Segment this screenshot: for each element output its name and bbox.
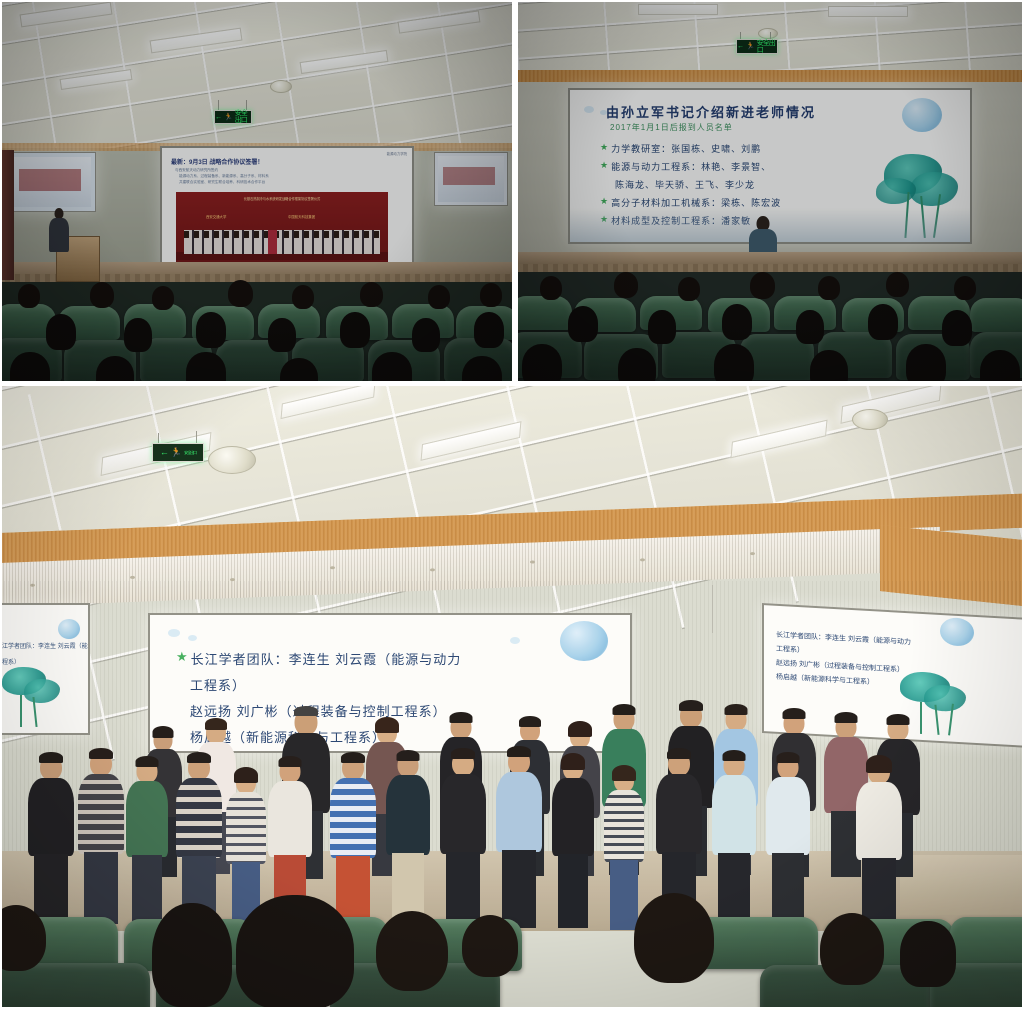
exit-sign-wire xyxy=(218,100,219,110)
running-person-icon: 🏃 xyxy=(746,43,755,50)
ceremony-subbanner-left: 西安交通大学 xyxy=(206,214,226,219)
slide-bullet-2: 能源动力系、过程装备系、新能源系、高分子系、材料系 xyxy=(179,174,407,179)
collage-border-left xyxy=(0,0,2,1009)
audience-head xyxy=(90,282,114,308)
audience-head xyxy=(954,276,976,300)
collage-divider-vertical xyxy=(512,0,518,383)
ceiling-speaker-dome xyxy=(758,28,778,39)
ceremony-banner: 长基石热制冷与水系统研发战略合作框架协议签署仪式 xyxy=(182,196,382,201)
slide-content: 最新：9月3日 战略合作协议签署！ 与西安航天动力研究所签约 能源动力系、过程装… xyxy=(162,148,412,270)
side-screen-left xyxy=(8,152,96,212)
slide-subtitle: 2017年1月1日后报到人员名单 xyxy=(610,122,733,133)
collage-panel-top-left: ← 🏃 安全出口 最新：9月3日 战略合作协议签署！ 与西安航天动力研究所签约 … xyxy=(0,0,512,381)
standing-group-front-row xyxy=(0,733,1024,933)
audience-head xyxy=(236,895,354,1009)
audience-head xyxy=(818,276,840,300)
photo-collage: ← 🏃 安全出口 最新：9月3日 战略合作协议签署！ 与西安航天动力研究所签约 … xyxy=(0,0,1024,1009)
exit-sign-label: 安全出口 xyxy=(235,110,251,124)
ceiling-speaker-dome xyxy=(852,409,888,430)
audience-head xyxy=(722,304,752,340)
ceiling-lamp xyxy=(828,6,908,17)
ceiling-speaker-dome xyxy=(270,80,292,93)
collage-divider-horizontal xyxy=(0,381,1024,386)
audience-head xyxy=(906,344,946,381)
slide-list-line: 工程系） xyxy=(0,657,20,666)
audience-head xyxy=(428,285,450,309)
audience-head xyxy=(340,312,370,348)
audience-area-bottom xyxy=(0,905,1024,1009)
exit-sign: ← 🏃 安全出口 xyxy=(152,443,204,462)
audience-head xyxy=(900,921,956,987)
audience-head xyxy=(750,272,775,299)
running-person-icon: 🏃 xyxy=(224,114,233,121)
ceiling-speaker-dome xyxy=(208,446,256,474)
slide-bullet-1: 与西安航天动力研究所签约 xyxy=(175,168,407,173)
audience-head xyxy=(820,913,884,985)
slide-list-line: 长江学者团队：李连生 刘云霞（能源与动力 xyxy=(191,649,462,668)
slide-corner-logo: 能源动力学院 xyxy=(387,151,407,156)
exit-sign-label: 安全出口 xyxy=(184,451,196,455)
audience-area-top-right xyxy=(518,272,1024,381)
ceiling-lamp xyxy=(638,4,718,15)
audience-head xyxy=(376,911,448,991)
audience-head xyxy=(568,306,598,342)
audience-head xyxy=(868,304,898,340)
audience-head xyxy=(480,283,502,307)
side-screen-right xyxy=(434,152,508,206)
audience-head xyxy=(124,318,152,352)
audience-head xyxy=(18,284,40,308)
seat xyxy=(518,296,572,330)
audience-head xyxy=(462,915,518,977)
stage-curtain xyxy=(0,150,14,280)
audience-head xyxy=(634,893,714,983)
audience-head xyxy=(886,272,909,297)
audience-head xyxy=(46,314,76,350)
slide-list-line: 长江学者团队：李连生 刘云霞（能源与动力 xyxy=(0,641,88,650)
audience-head xyxy=(0,905,46,971)
collage-panel-top-right: ← 🏃 安全出口 由孙立军书记介绍新进老师情况 2017年1月1日后报到人员名单… xyxy=(518,0,1024,381)
slide-list-line: 工程系） xyxy=(190,675,246,694)
audience-head xyxy=(648,310,676,344)
audience-head xyxy=(678,277,700,301)
audience-head xyxy=(540,276,562,300)
audience-head xyxy=(474,312,504,348)
audience-head xyxy=(268,318,296,352)
collage-panel-bottom: ← 🏃 安全出口 长江学者团队：李连生 刘云霞（能源与动力 工程系） xyxy=(0,385,1024,1009)
ceiling-top-left: ← 🏃 安全出口 xyxy=(0,0,512,150)
slide-blue-blob xyxy=(940,617,974,647)
slide-list: 长江学者团队：李连生 刘云霞（能源与动力 工程系） 赵远扬 刘广彬（过程装备与控… xyxy=(776,630,911,690)
slide-mini-blob xyxy=(510,637,520,644)
audience-head xyxy=(360,282,383,307)
speaker-person xyxy=(48,208,70,266)
seat xyxy=(950,917,1024,969)
bullet-star-icon: ★ xyxy=(600,142,608,155)
audience-head xyxy=(714,344,754,381)
exit-sign: ← 🏃 安全出口 xyxy=(214,110,252,124)
collage-border-top xyxy=(0,0,1024,2)
audience-head xyxy=(796,310,824,344)
audience-area-top-left xyxy=(0,282,512,381)
bullet-star-icon: ★ xyxy=(600,160,608,173)
exit-arrow-icon: ← xyxy=(160,448,169,457)
audience-head xyxy=(152,286,174,310)
standing-person xyxy=(78,751,124,931)
bullet-star-icon: ★ xyxy=(176,649,188,668)
slide-blue-blob xyxy=(560,621,608,661)
slide-blue-blob xyxy=(58,619,80,639)
slide-list-line: 杨启越（新能源科学与工程系） xyxy=(776,672,911,690)
audience-head xyxy=(228,280,253,307)
slide-mini-blob xyxy=(168,629,180,637)
slide-list-line: 陈海龙、毕天骄、王飞、李少龙 xyxy=(615,178,755,191)
exit-sign-wire xyxy=(770,32,771,39)
audience-head xyxy=(614,272,638,298)
audience-head xyxy=(196,312,226,348)
exit-arrow-icon: ← xyxy=(737,43,744,50)
hanging-cable xyxy=(712,585,713,633)
audience-head xyxy=(412,318,440,352)
ceiling-top-right: ← 🏃 安全出口 xyxy=(518,0,1024,72)
audience-head xyxy=(152,903,232,1007)
audience-head xyxy=(810,350,848,381)
exit-sign: ← 🏃 安全出口 xyxy=(736,39,778,54)
slide-title: 最新：9月3日 战略合作协议签署！ xyxy=(171,157,407,166)
ceremony-subbanner-right: 中国航天科技集团 xyxy=(288,214,315,219)
audience-head xyxy=(942,310,972,346)
slide-bullet-3: 共建联合实验室、研究生联合培养、科研技术合作平台 xyxy=(179,180,407,185)
seat xyxy=(970,298,1024,332)
main-projection-screen-top-left: 最新：9月3日 战略合作协议签署！ 与西安航天动力研究所签约 能源动力系、过程装… xyxy=(160,146,414,272)
slide-list-line: 能源与动力工程系：林艳、李景智、 xyxy=(611,160,771,173)
slide-title: 由孙立军书记介绍新进老师情况 xyxy=(606,102,816,121)
running-person-icon: 🏃 xyxy=(171,448,182,457)
slide-mini-blob xyxy=(188,635,197,641)
exit-sign-wire xyxy=(196,431,197,443)
slide-list-line: 力学教研室：张国栋、史啸、刘鹏 xyxy=(611,142,761,155)
slide-embedded-photo: 长基石热制冷与水系统研发战略合作框架协议签署仪式 西安交通大学 中国航天科技集团 xyxy=(176,192,388,264)
audience-head xyxy=(522,344,562,381)
exit-arrow-icon: ← xyxy=(215,114,222,121)
exit-sign-wire xyxy=(740,32,741,39)
exit-sign-label: 安全出口 xyxy=(757,40,777,54)
audience-head xyxy=(618,348,656,381)
audience-head xyxy=(292,285,314,309)
